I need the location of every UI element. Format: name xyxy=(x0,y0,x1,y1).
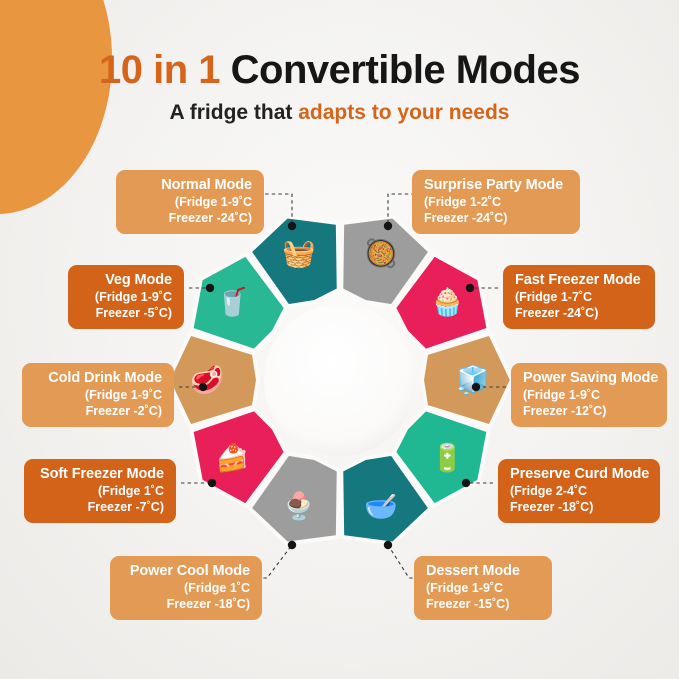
page-subtitle: A fridge that adapts to your needs xyxy=(0,101,679,125)
label-fridge-temp: (Fridge 1-9˚C xyxy=(128,195,252,210)
label-fast-freezer-mode[interactable]: Fast Freezer Mode (Fridge 1-7˚C Freezer … xyxy=(503,265,655,329)
label-freezer-temp: Freezer -18˚C) xyxy=(510,500,648,515)
raw-meat-icon: 🥩 xyxy=(190,364,224,396)
label-fridge-temp: (Fridge 1-9˚C xyxy=(426,581,540,596)
page-title: 10 in 1 Convertible Modes xyxy=(0,50,679,90)
wheel-hub xyxy=(264,304,416,456)
label-fridge-temp: (Fridge 1˚C xyxy=(36,484,164,499)
label-power-cool-mode[interactable]: Power Cool Mode (Fridge 1˚C Freezer -18˚… xyxy=(110,556,262,620)
infographic-stage: 10 in 1 Convertible Modes A fridge that … xyxy=(0,0,679,679)
title-highlight: 10 in 1 xyxy=(99,48,220,92)
label-power-saving-mode[interactable]: Power Saving Mode (Fridge 1-9˚C Freezer … xyxy=(511,363,667,427)
label-freezer-temp: Freezer -18˚C) xyxy=(122,597,250,612)
label-title: Cold Drink Mode xyxy=(34,370,162,387)
label-freezer-temp: Freezer -24˚C) xyxy=(424,211,568,226)
label-dessert-mode[interactable]: Dessert Mode (Fridge 1-9˚C Freezer -15˚C… xyxy=(414,556,552,620)
ice-cream-sundae-icon: 🍨 xyxy=(282,489,316,522)
cold-drink-glass-icon: 🥤 xyxy=(216,286,250,317)
cupcake-icon: 🧁 xyxy=(431,286,465,317)
label-freezer-temp: Freezer -15˚C) xyxy=(426,597,540,612)
label-preserve-curd-mode[interactable]: Preserve Curd Mode (Fridge 2-4˚C Freezer… xyxy=(498,459,660,523)
label-fridge-temp: (Fridge 2-4˚C xyxy=(510,484,648,499)
label-title: Preserve Curd Mode xyxy=(510,466,648,483)
cake-slice-icon: 🍰 xyxy=(216,442,250,473)
label-title: Power Saving Mode xyxy=(523,370,655,387)
label-fridge-temp: (Fridge 1-9˚C xyxy=(523,388,655,403)
label-veg-mode[interactable]: Veg Mode (Fridge 1-9˚C Freezer -5˚C) xyxy=(68,265,184,329)
label-fridge-temp: (Fridge 1-7˚C xyxy=(515,290,643,305)
title-rest: Convertible Modes xyxy=(231,48,580,92)
wheel-svg: 🥘🧁🧊🔋🥣🍨🍰🥩🥤🧺 xyxy=(160,200,520,560)
subtitle-plain: A fridge that xyxy=(170,101,299,124)
label-title: Soft Freezer Mode xyxy=(36,466,164,483)
label-title: Power Cool Mode xyxy=(122,563,250,580)
label-fridge-temp: (Fridge 1-9˚C xyxy=(34,388,162,403)
label-surprise-party-mode[interactable]: Surprise Party Mode (Fridge 1-2˚C Freeze… xyxy=(412,170,580,234)
label-freezer-temp: Freezer -5˚C) xyxy=(80,306,172,321)
label-freezer-temp: Freezer -2˚C) xyxy=(34,404,162,419)
label-normal-mode[interactable]: Normal Mode (Fridge 1-9˚C Freezer -24˚C) xyxy=(116,170,264,234)
label-freezer-temp: Freezer -12˚C) xyxy=(523,404,655,419)
ice-cubes-icon: 🧊 xyxy=(456,364,490,396)
label-title: Normal Mode xyxy=(128,177,252,194)
subtitle-highlight: adapts to your needs xyxy=(298,101,509,124)
label-title: Surprise Party Mode xyxy=(424,177,568,194)
label-fridge-temp: (Fridge 1˚C xyxy=(122,581,250,596)
label-freezer-temp: Freezer -7˚C) xyxy=(36,500,164,515)
curd-bowl-icon: 🥣 xyxy=(364,491,398,521)
vegetable-basket-icon: 🧺 xyxy=(282,239,316,269)
convertible-modes-wheel: 🥘🧁🧊🔋🥣🍨🍰🥩🥤🧺 xyxy=(160,200,520,560)
label-fridge-temp: (Fridge 1-9˚C xyxy=(80,290,172,305)
food-bowl-icon: 🥘 xyxy=(364,237,398,270)
label-soft-freezer-mode[interactable]: Soft Freezer Mode (Fridge 1˚C Freezer -7… xyxy=(24,459,176,523)
label-freezer-temp: Freezer -24˚C) xyxy=(515,306,643,321)
label-freezer-temp: Freezer -24˚C) xyxy=(128,211,252,226)
label-fridge-temp: (Fridge 1-2˚C xyxy=(424,195,568,210)
label-title: Fast Freezer Mode xyxy=(515,272,643,289)
battery-icon: 🔋 xyxy=(431,442,465,473)
label-title: Dessert Mode xyxy=(426,563,540,580)
label-title: Veg Mode xyxy=(80,272,172,289)
label-cold-drink-mode[interactable]: Cold Drink Mode (Fridge 1-9˚C Freezer -2… xyxy=(22,363,174,427)
header: 10 in 1 Convertible Modes A fridge that … xyxy=(0,50,679,125)
